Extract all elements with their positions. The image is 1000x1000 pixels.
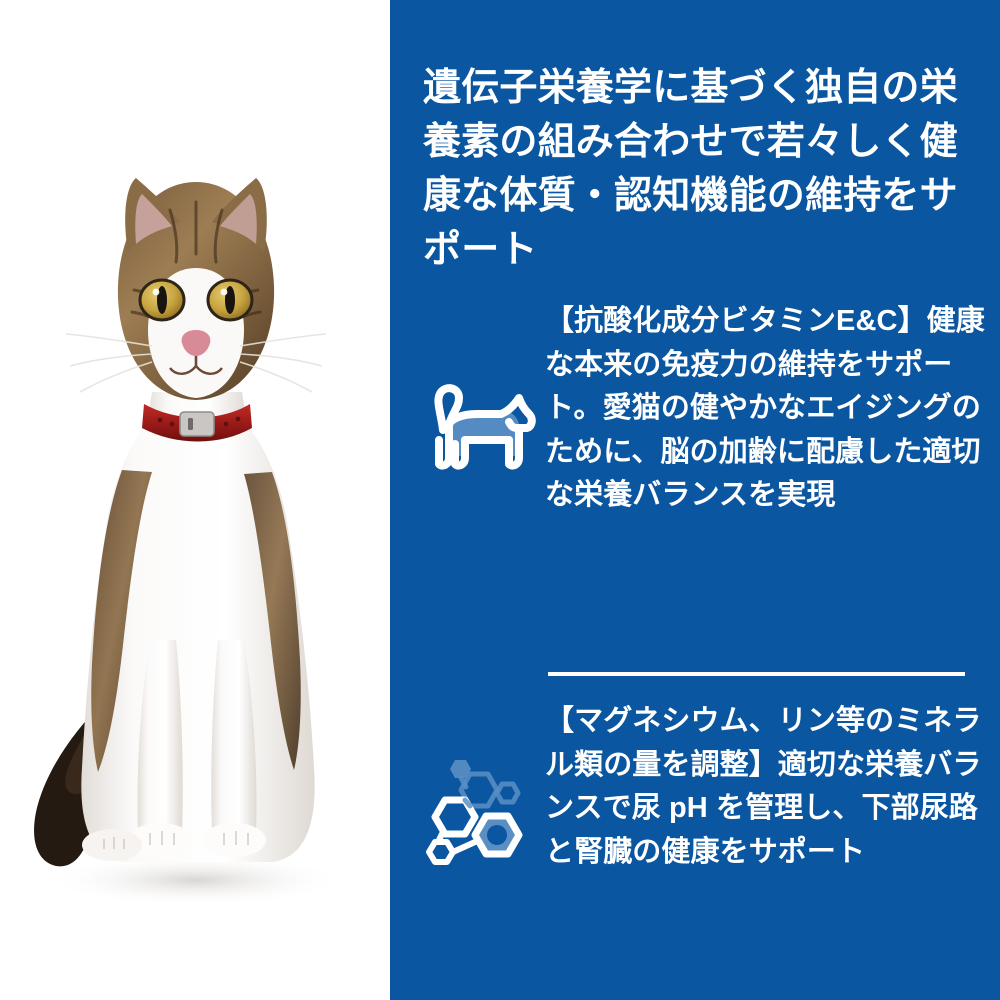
feature-item-minerals: 【マグネシウム、リン等のミネラル類の量を調整】適切な栄養バランスで尿 pH を管… bbox=[410, 700, 990, 874]
molecule-icon-glyph bbox=[426, 758, 530, 868]
cat-photo-pane bbox=[0, 0, 390, 1000]
section-divider bbox=[548, 672, 965, 676]
molecule-icon bbox=[410, 700, 545, 868]
cat-photo bbox=[0, 0, 390, 1000]
cat-icon-glyph bbox=[419, 378, 537, 482]
info-panel: 遺伝子栄養学に基づく独自の栄養素の組み合わせで若々しく健康な体質・認知機能の維持… bbox=[390, 0, 1000, 1000]
feature-text-minerals: 【マグネシウム、リン等のミネラル類の量を調整】適切な栄養バランスで尿 pH を管… bbox=[545, 700, 990, 874]
page-title: 遺伝子栄養学に基づく独自の栄養素の組み合わせで若々しく健康な体質・認知機能の維持… bbox=[423, 62, 979, 278]
cat-icon bbox=[410, 300, 545, 482]
feature-text-antioxidant: 【抗酸化成分ビタミンE&C】健康な本来の免疫力の維持をサポート。愛猫の健やかなエ… bbox=[545, 300, 990, 518]
feature-item-antioxidant: 【抗酸化成分ビタミンE&C】健康な本来の免疫力の維持をサポート。愛猫の健やかなエ… bbox=[410, 300, 990, 518]
product-feature-banner: 遺伝子栄養学に基づく独自の栄養素の組み合わせで若々しく健康な体質・認知機能の維持… bbox=[0, 0, 1000, 1000]
